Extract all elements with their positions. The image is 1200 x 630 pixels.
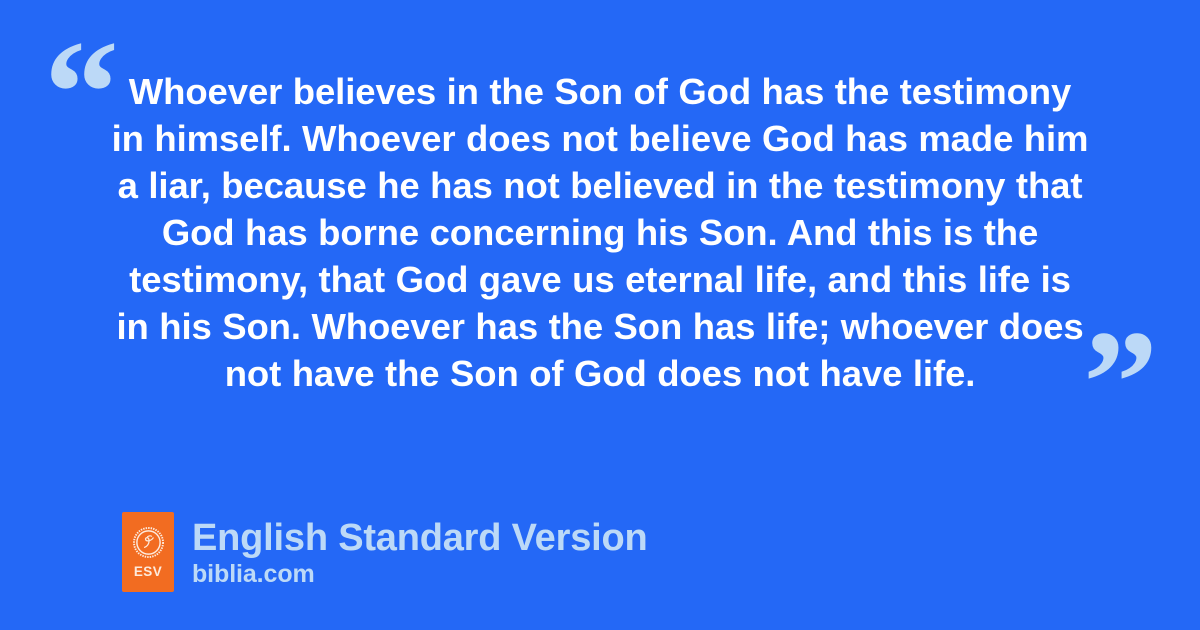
esv-abbreviation: ESV [134, 565, 162, 579]
closing-quote-icon: ” [1083, 308, 1158, 458]
quote-block: Whoever believes in the Son of God has t… [110, 68, 1090, 397]
attribution-text: English Standard Version biblia.com [192, 516, 648, 588]
esv-seal-icon [133, 527, 164, 558]
bible-verse-card: “ Whoever believes in the Son of God has… [0, 0, 1200, 630]
attribution-footer: ESV English Standard Version biblia.com [122, 512, 648, 592]
esv-logo: ESV [122, 512, 174, 592]
site-url: biblia.com [192, 560, 648, 588]
verse-text: Whoever believes in the Son of God has t… [110, 68, 1090, 397]
opening-quote-icon: “ [44, 18, 119, 168]
bible-version-name: English Standard Version [192, 516, 648, 560]
